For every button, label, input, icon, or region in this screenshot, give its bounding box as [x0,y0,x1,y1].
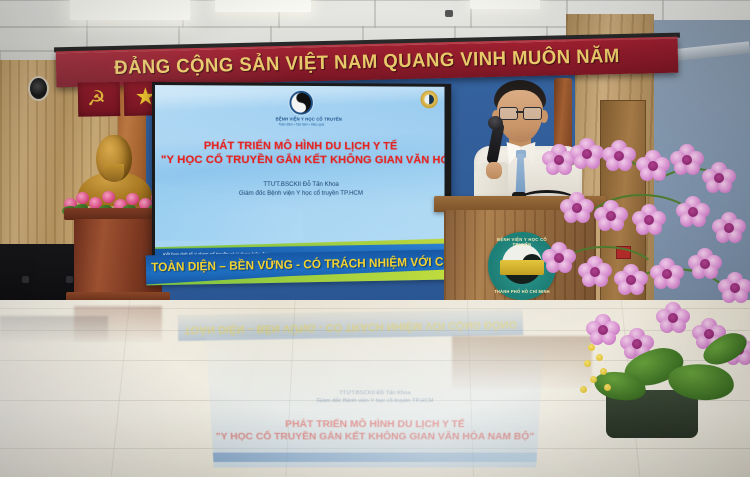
cabinet-knob [66,276,73,283]
cabinet-knob [22,276,29,283]
orchid-bloom [560,192,594,224]
orchid-bloom [712,212,746,244]
slide-title: PHÁT TRIỂN MÔ HÌNH DU LỊCH Y TẾ "Y HỌC C… [161,139,439,167]
conference-hall-photo: ĐẢNG CỘNG SẢN VIỆT NAM QUANG VINH MUÔN N… [0,0,750,477]
orchid-bloom [676,196,710,228]
yin-yang-icon [289,91,312,115]
bust-beard [104,164,124,182]
ceiling-light-panel [470,0,540,9]
hammer-sickle-icon: ☭ [87,88,111,110]
orchid-bloom [602,140,636,172]
slide-title-line-1: PHÁT TRIỂN MÔ HÌNH DU LỊCH Y TẾ [161,139,439,153]
secondary-emblem-icon [420,91,437,109]
orchid-bloom [586,314,620,346]
eyeglasses-lens-left [499,107,518,120]
presentation-slide: BỆNH VIỆN Y HỌC CỔ TRUYỀN Toàn diện • Tậ… [155,85,445,261]
presenter-role: Giám đốc Bệnh viện Y học cổ truyền TP.HC… [161,189,439,198]
communist-party-flag: ☭ [78,82,121,117]
eyeglasses-lens-right [523,107,542,120]
hospital-logo-name: BỆNH VIỆN Y HỌC CỔ TRUYỀN [276,116,327,121]
orchid-bloom [636,150,670,182]
orchid-bloom [542,242,576,274]
ceiling-light-panel [215,0,311,12]
orchid-bloom [656,302,690,334]
projection-screen: BỆNH VIỆN Y HỌC CỔ TRUYỀN Toàn diện • Tậ… [152,82,451,268]
presenter-name: TTƯT.BSCKII Đỗ Tấn Khoa [161,181,439,190]
orchid-bloom [632,204,666,236]
orchid-bloom [650,258,684,290]
orchid-bloom [688,248,722,280]
slide-presenter-block: TTƯT.BSCKII Đỗ Tấn Khoa Giám đốc Bệnh vi… [161,181,439,198]
orchid-bloom [578,256,612,288]
gate-motif-icon [500,260,544,275]
orchid-arrangement [540,138,750,438]
orchid-bloom [670,144,704,176]
hospital-logo: BỆNH VIỆN Y HỌC CỔ TRUYỀN Toàn diện • Tậ… [276,91,327,121]
ceiling-camera-icon [445,10,453,17]
orchid-bloom [570,138,604,170]
slide-title-line-2: "Y HỌC CỔ TRUYỀN GẮN KẾT KHÔNG GIAN VĂN … [161,153,439,167]
orchid-bloom [702,162,736,194]
eyeglasses-bridge [516,111,523,113]
speaker-hand [486,162,502,179]
orchid-bloom [594,200,628,232]
orchid-bloom [614,264,648,296]
wall-speaker-icon [28,76,49,101]
hospital-logo-tagline: Toàn diện • Tận tâm • Hiệu quả [276,122,327,126]
orchid-bloom [718,272,750,304]
ceiling-light-panel [70,0,190,20]
